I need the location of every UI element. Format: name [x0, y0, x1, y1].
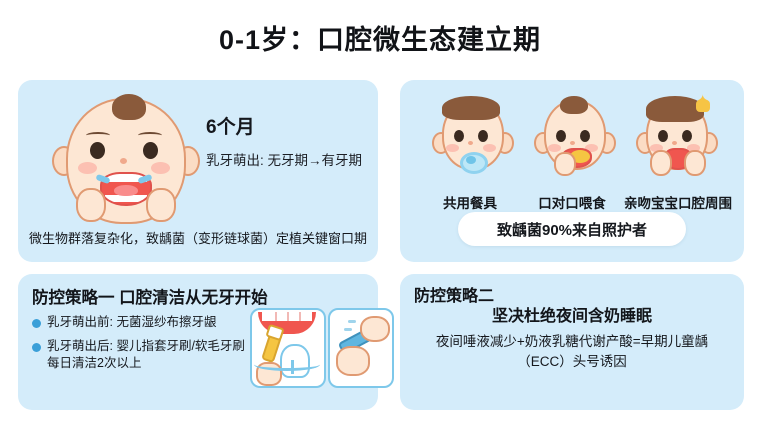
panel-six-months: 6个月 乳牙萌出: 无牙期→有牙期 微生物群落复杂化，致龋菌（变形链球菌）定植关… [18, 80, 378, 262]
page-title: 0-1岁：口腔微生态建立期 [0, 18, 760, 57]
bullet-dot-icon [32, 319, 41, 328]
six-months-heading: 6个月 [206, 112, 362, 139]
six-months-subheading: 乳牙萌出: 无牙期→有牙期 [206, 149, 362, 169]
baby-being-spoon-fed-icon [534, 94, 612, 186]
transmission-label-0: 共用餐具 [420, 192, 520, 212]
panel-strategy-two: 防控策略二 坚决杜绝夜间含奶睡眠 夜间唾液减少+奶液乳糖代谢产酸=早期儿童龋（E… [400, 274, 744, 410]
illustration-hand-holding-toothbrush [328, 308, 394, 388]
list-item: 乳牙萌出后: 婴儿指套牙刷/软毛牙刷每日清洁2次以上 [32, 338, 248, 372]
strategy-two-heading-line2: 坚决杜绝夜间含奶睡眠 [400, 302, 744, 326]
illustration-mouth-with-toothbrush [250, 308, 326, 388]
infographic-page: 0-1岁：口腔微生态建立期 6个月 [0, 0, 760, 427]
strategy-one-bullet-list: 乳牙萌出前: 无菌湿纱布擦牙龈 乳牙萌出后: 婴儿指套牙刷/软毛牙刷每日清洁2次… [32, 314, 248, 379]
six-months-caption: 微生物群落复杂化，致龋菌（变形链球菌）定植关键窗口期 [18, 228, 378, 247]
strategy-one-heading: 防控策略一 口腔清洁从无牙开始 [32, 284, 268, 308]
baby-with-pacifier-icon [432, 94, 510, 186]
bullet-dot-icon [32, 343, 41, 352]
panel-transmission-routes: 共用餐具 口对口喂食 [400, 80, 744, 262]
panel-strategy-one: 防控策略一 口腔清洁从无牙开始 乳牙萌出前: 无菌湿纱布擦牙龈 乳牙萌出后: 婴… [18, 274, 378, 410]
transmission-label-2: 亲吻宝宝口腔周围 [624, 192, 724, 212]
transmission-label-1: 口对口喂食 [522, 192, 622, 212]
caregiver-statistic-pill: 致龋菌90%来自照护者 [458, 212, 686, 246]
bullet-text-0: 乳牙萌出前: 无菌湿纱布擦牙龈 [47, 314, 216, 331]
list-item: 乳牙萌出前: 无菌湿纱布擦牙龈 [32, 314, 248, 331]
six-months-text-block: 6个月 乳牙萌出: 无牙期→有牙期 [206, 112, 362, 169]
bullet-text-1: 乳牙萌出后: 婴儿指套牙刷/软毛牙刷每日清洁2次以上 [47, 338, 248, 372]
baby-face-with-teeth-illustration [50, 92, 200, 230]
strategy-two-body-text: 夜间唾液减少+奶液乳糖代谢产酸=早期儿童龋（ECC）头号诱因 [426, 332, 718, 373]
baby-being-kissed-icon: ✦ [636, 94, 714, 186]
